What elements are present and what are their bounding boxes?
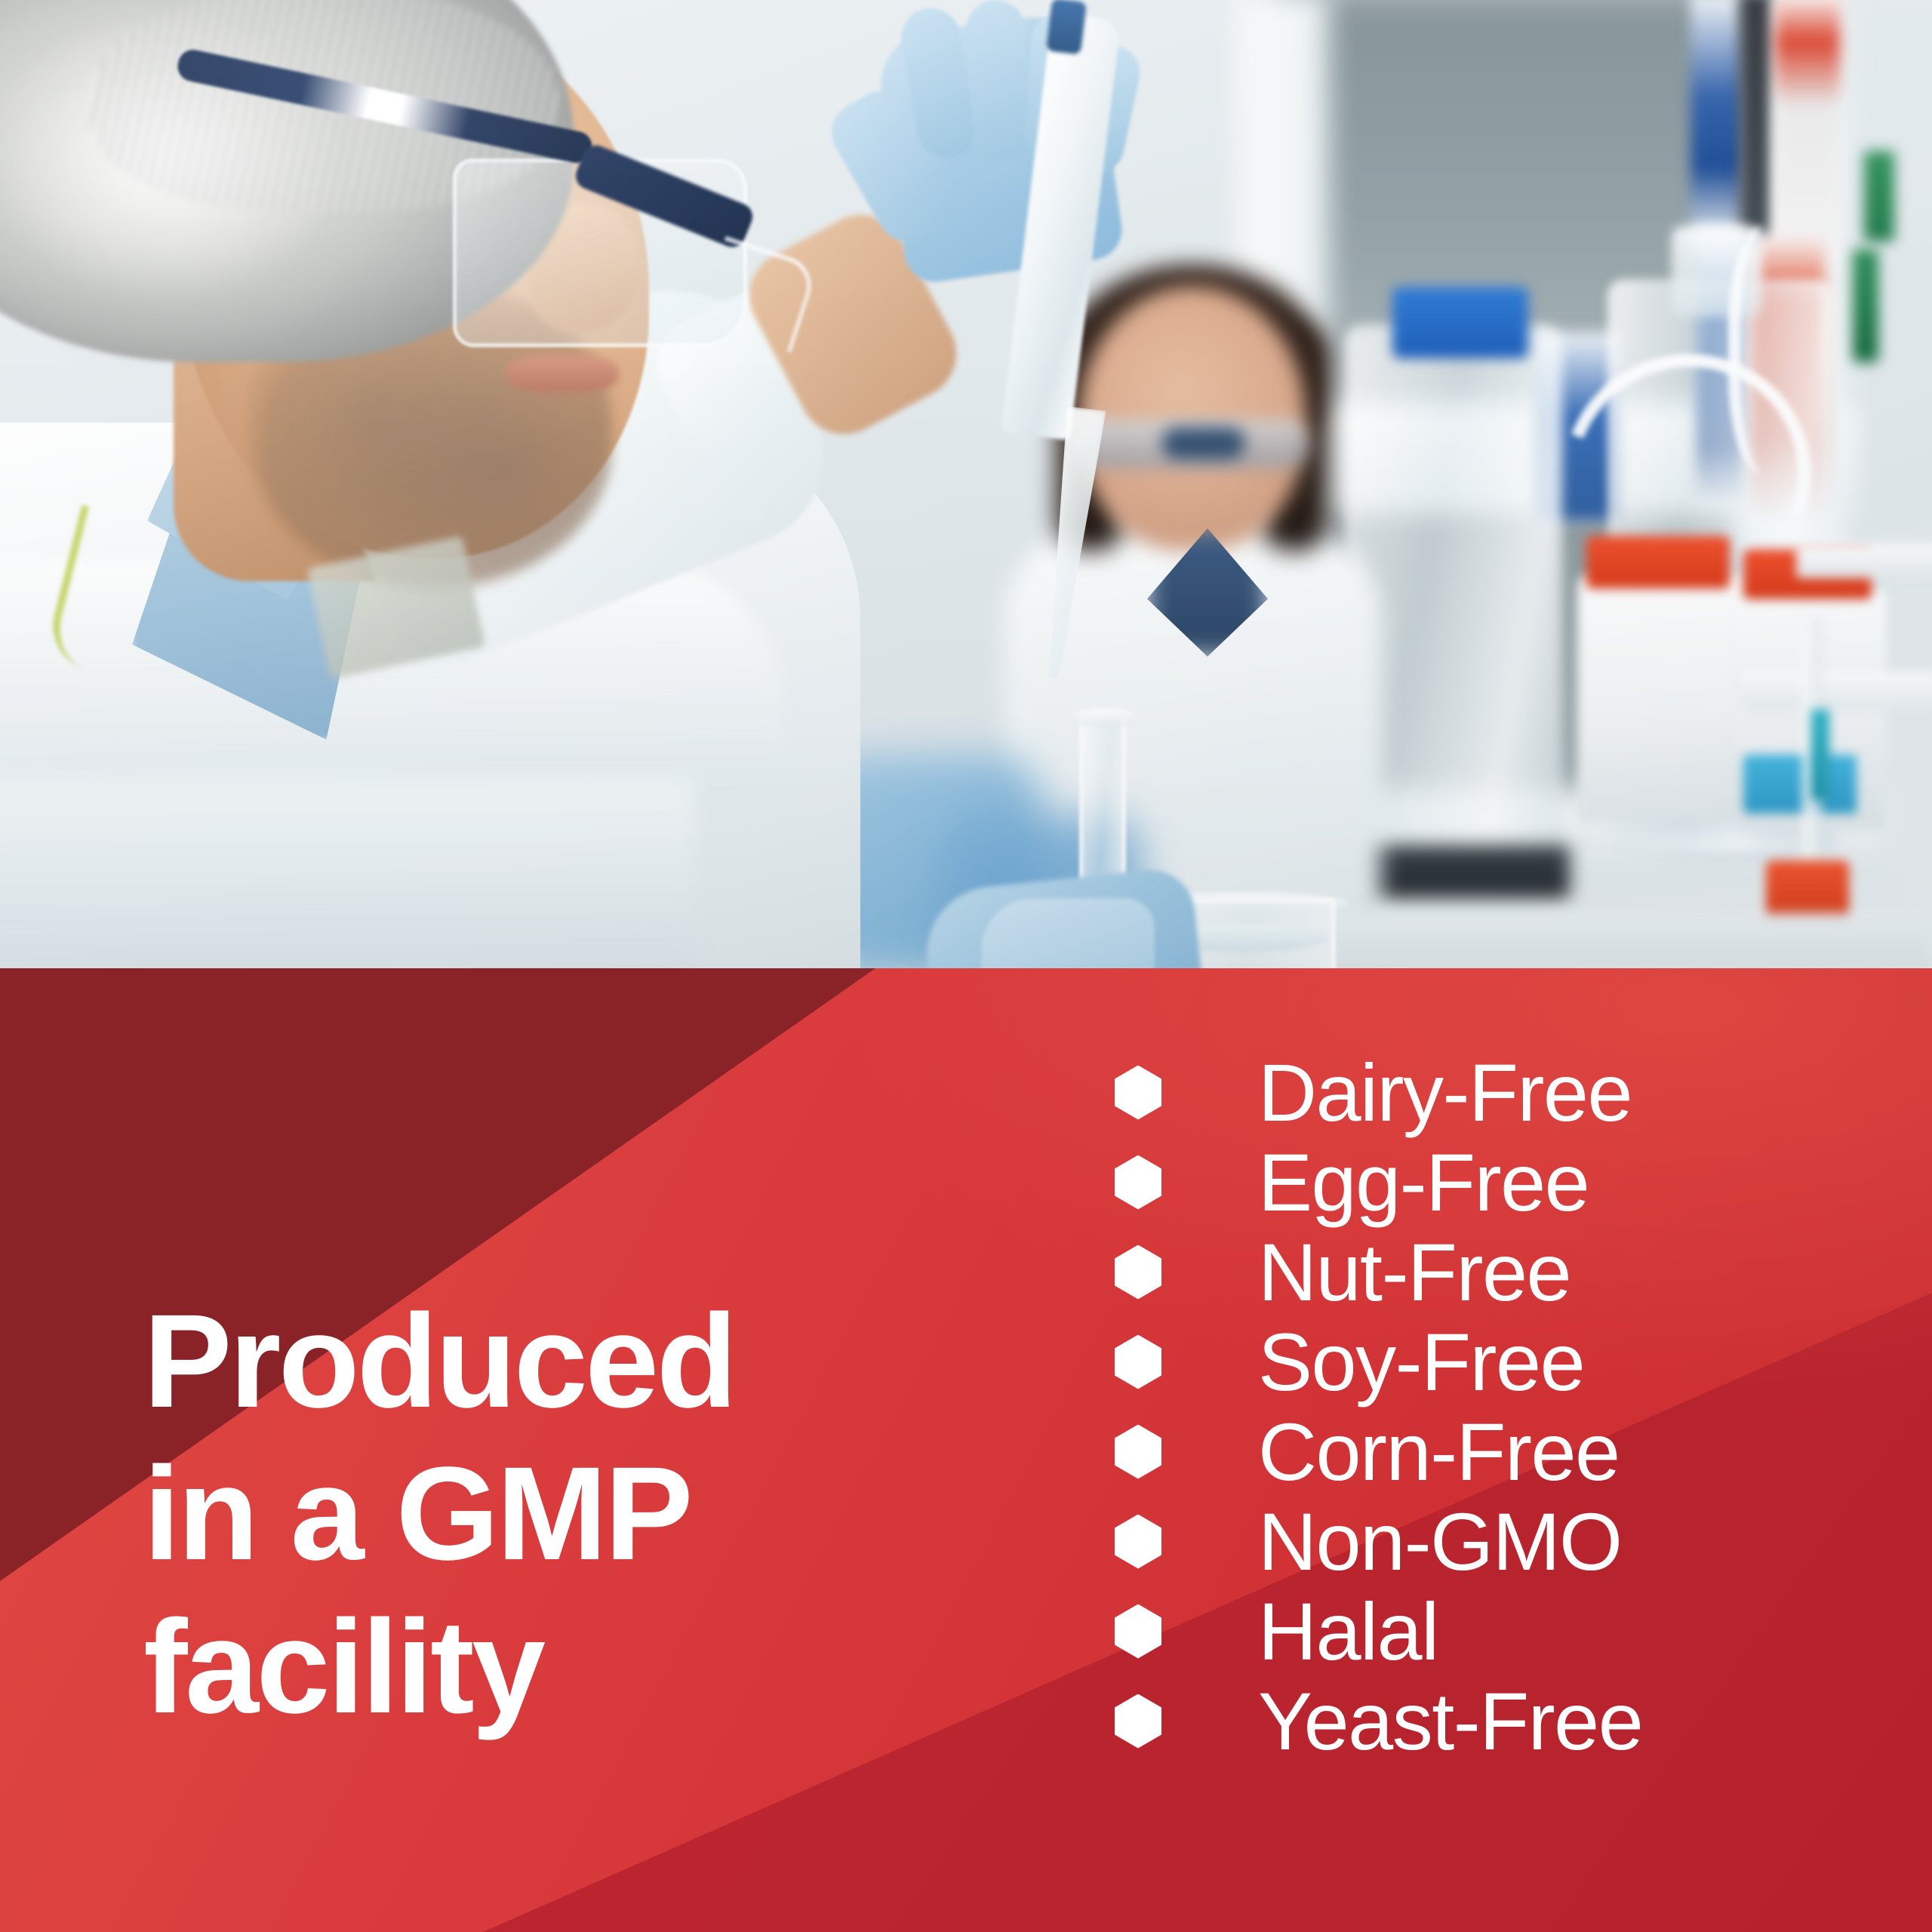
claims-list: Dairy-Free Egg-Free Nut-Free Soy-Free Co…: [1084, 1048, 1642, 1766]
background-scientist-goggle-lens: [1162, 427, 1245, 459]
list-item: Nut-Free: [1115, 1227, 1642, 1317]
list-item: Yeast-Free: [1115, 1676, 1642, 1766]
pipette-plunger: [1046, 0, 1087, 55]
list-item: Corn-Free: [1115, 1407, 1642, 1497]
hexagon-bullet-icon: [1115, 1066, 1161, 1120]
claim-label: Corn-Free: [1258, 1411, 1620, 1493]
hexagon-bullet-icon: [1115, 1604, 1161, 1659]
burette-teal-band: [1811, 709, 1829, 800]
wash-bottle-label: [1743, 755, 1857, 814]
hexagon-bullet-icon: [1115, 1515, 1161, 1569]
shelf-box-green: [1864, 151, 1894, 241]
page-title: Produced in a GMP facility: [143, 1285, 936, 1743]
list-item: Soy-Free: [1115, 1317, 1642, 1407]
shelf-box-blue: [1690, 0, 1743, 241]
headline-line-3: facility: [143, 1591, 936, 1743]
list-item: Egg-Free: [1115, 1137, 1642, 1227]
claim-label: Nut-Free: [1258, 1232, 1571, 1313]
shelf-box-red: [1775, 0, 1840, 264]
wash-bottle-1-cap: [1586, 536, 1730, 589]
burette-clamp-2: [1796, 543, 1932, 578]
hexagon-bullet-icon: [1115, 1425, 1161, 1479]
hexagon-bullet-icon: [1115, 1245, 1161, 1300]
scientist-lab-coat-fold-2: [0, 777, 694, 968]
claim-label: Non-GMO: [1258, 1501, 1622, 1583]
gloved-finger-2: [964, 0, 1035, 164]
lab-tubing-2: [1728, 226, 1819, 475]
headline-line-1: Produced: [143, 1285, 936, 1438]
scientist-lips: [506, 355, 619, 392]
infographic-canvas: Produced in a GMP facility Dairy-Free Eg…: [0, 0, 1932, 1932]
lab-photo: [0, 0, 1932, 968]
claim-label: Soy-Free: [1258, 1321, 1584, 1403]
claim-label: Yeast-Free: [1258, 1681, 1642, 1762]
claim-label: Halal: [1258, 1591, 1438, 1672]
test-tube-lip: [1070, 708, 1137, 728]
shelf-box-dark: [1740, 0, 1771, 249]
wash-bottle-1: [1577, 574, 1751, 823]
hexagon-bullet-icon: [1115, 1155, 1161, 1210]
burette-clamp: [1743, 672, 1932, 711]
gloved-hand-lower-fingers: [981, 898, 1155, 968]
claim-label: Egg-Free: [1258, 1142, 1589, 1223]
hexagon-bullet-icon: [1115, 1335, 1161, 1389]
claim-label: Dairy-Free: [1258, 1052, 1632, 1134]
list-item: Non-GMO: [1115, 1497, 1642, 1586]
list-item: Halal: [1115, 1586, 1642, 1676]
hexagon-bullet-icon: [1115, 1694, 1161, 1749]
reagent-bottle-blue-cap: [1392, 287, 1528, 358]
headline-line-2: in a GMP: [143, 1438, 936, 1590]
list-item: Dairy-Free: [1115, 1048, 1642, 1137]
shelf-box-green-2: [1853, 249, 1878, 362]
